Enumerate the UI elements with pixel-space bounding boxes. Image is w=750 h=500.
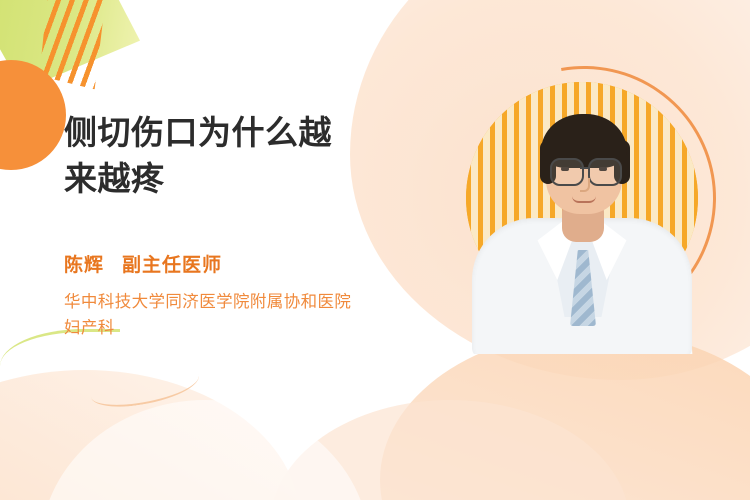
doctor-figure (466, 82, 698, 354)
card-title: 侧切伤口为什么越 来越疼 (64, 110, 464, 202)
mouth (572, 196, 596, 203)
doctor-name: 陈辉 (64, 250, 104, 277)
doctor-portrait (466, 82, 698, 354)
promo-card: 侧切伤口为什么越 来越疼 陈辉 副主任医师 华中科技大学同济医学院附属协和医院 … (0, 0, 750, 500)
doctor-affiliation: 华中科技大学同济医学院附属协和医院 妇产科 (64, 289, 464, 341)
doctor-rank: 副主任医师 (122, 250, 222, 277)
glasses-bridge (580, 167, 590, 169)
text-content: 侧切伤口为什么越 来越疼 陈辉 副主任医师 华中科技大学同济医学院附属协和医院 … (64, 110, 464, 341)
glasses-lens-left (550, 158, 584, 186)
nose (580, 178, 590, 192)
doctor-byline: 陈辉 副主任医师 (64, 250, 464, 277)
glasses-lens-right (588, 158, 622, 186)
